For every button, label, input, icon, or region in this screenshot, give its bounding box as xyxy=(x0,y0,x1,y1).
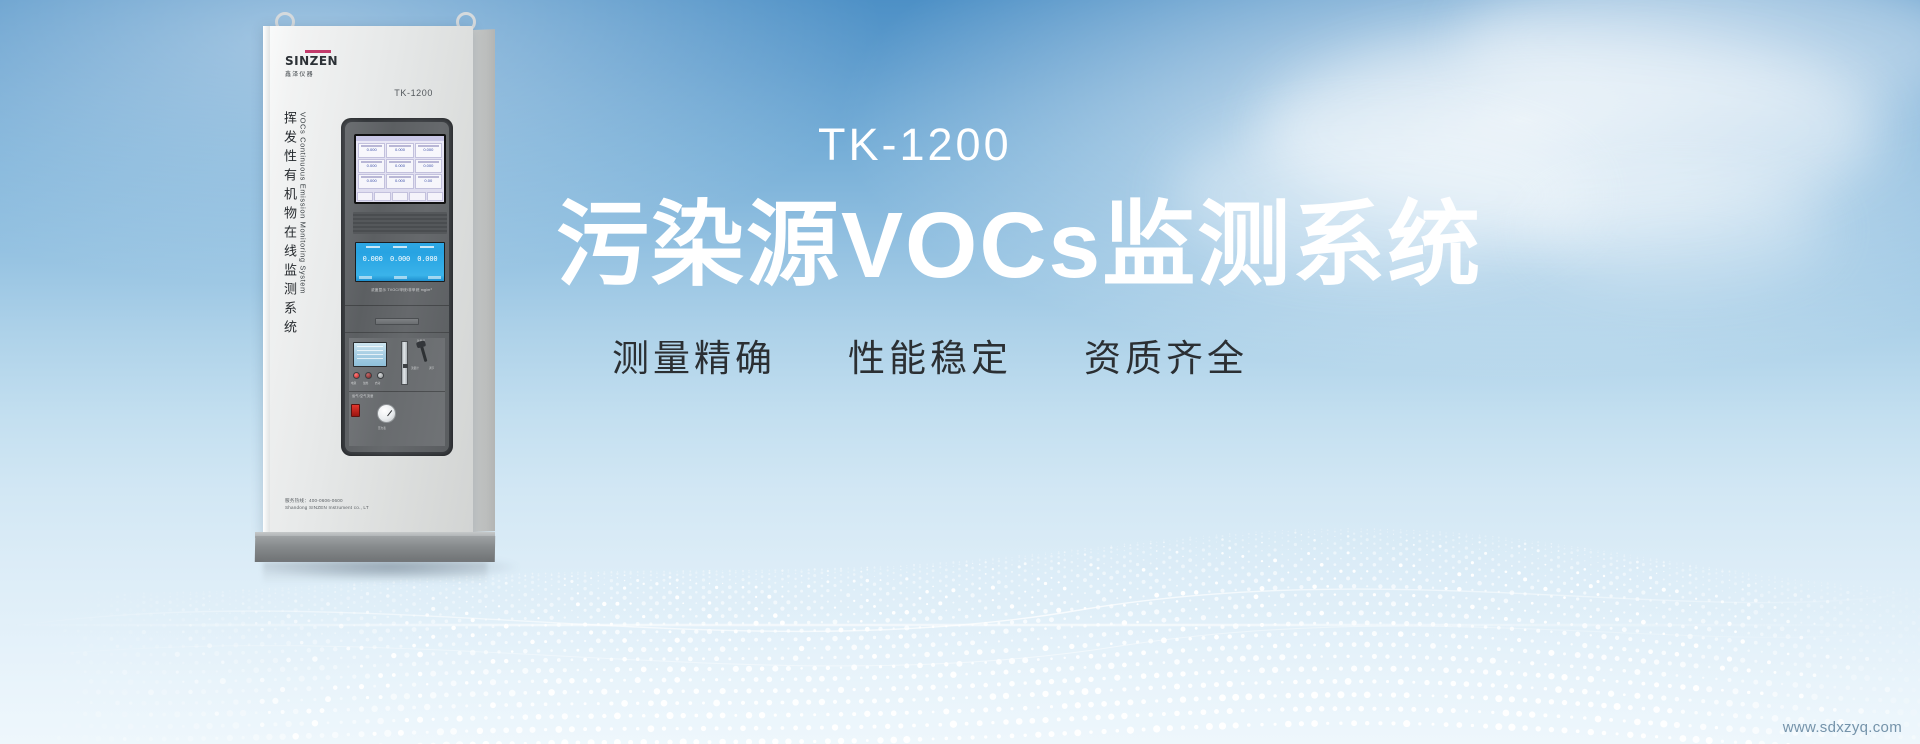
lcd-caption: 浓度显示 TVOC/甲烷/非甲烷 mg/m³ xyxy=(371,288,432,293)
panel-divider xyxy=(349,391,445,392)
cabinet-door: 0.000 0.000 0.000 0.000 0.000 0.000 0.00… xyxy=(341,118,453,456)
hmi-readout-cell: 0.000 xyxy=(386,174,413,189)
company-name-en: Shandong SINZEN Instrument co., LT xyxy=(285,505,369,512)
feature-item: 性能稳定 xyxy=(848,328,1012,382)
pressure-gauge-label: 压力表 xyxy=(378,426,386,430)
rotameter-label-left: 流量计 xyxy=(411,366,419,370)
vertical-label-en: VOCs Continuous Emission Monitoring Syst… xyxy=(299,112,307,294)
feature-item: 资质齐全 xyxy=(1084,328,1248,382)
hmi-readout-cell: 0.00 xyxy=(415,174,442,189)
hmi-readout-cell: 0.000 xyxy=(415,143,442,158)
drawer-handle[interactable] xyxy=(375,318,419,325)
power-button-label: 电源 xyxy=(351,381,356,385)
analyzer-control-panel: 电源 加热 启动 针型阀 流量计 调节 载气/空气流量 xyxy=(349,338,445,446)
hmi-footer-button[interactable] xyxy=(357,192,373,201)
start-button[interactable] xyxy=(377,372,384,379)
hmi-readout-cell: 0.000 xyxy=(386,143,413,158)
vertical-label-strip: 挥发性有机物在线监测系统 VOCs Continuous Emission Mo… xyxy=(283,111,307,339)
site-watermark: www.sdxzyq.com xyxy=(1783,719,1902,736)
hmi-touchscreen[interactable]: 0.000 0.000 0.000 0.000 0.000 0.000 0.00… xyxy=(354,134,446,204)
ventilation-slats xyxy=(353,212,447,234)
brand-name: SINZEN xyxy=(285,54,365,68)
cabinet-door-inner: 0.000 0.000 0.000 0.000 0.000 0.000 0.00… xyxy=(345,122,449,452)
product-banner: SINZEN 鑫泽仪器 TK-1200 挥发性有机物在线监测系统 VOCs Co… xyxy=(0,0,1920,744)
hmi-footer-button[interactable] xyxy=(409,192,425,201)
banner-copy: TK-1200 污染源VOCs监测系统 测量精确 性能稳定 资质齐全 xyxy=(556,120,1856,382)
cabinet-side-panel xyxy=(473,29,495,532)
hmi-readout-cell: 0.000 xyxy=(358,174,385,189)
horizon-glow xyxy=(0,624,1920,626)
power-button[interactable] xyxy=(353,372,360,379)
cabinet-left-edge xyxy=(263,26,270,536)
hmi-readout-grid: 0.000 0.000 0.000 0.000 0.000 0.000 0.00… xyxy=(356,141,444,191)
hmi-footer-buttons[interactable] xyxy=(356,191,444,202)
door-divider xyxy=(345,332,449,333)
brand-name-cn: 鑫泽仪器 xyxy=(285,69,365,78)
lcd-value: 0.000 xyxy=(417,255,437,263)
feature-item: 测量精确 xyxy=(612,328,776,382)
hmi-readout-cell: 0.000 xyxy=(415,159,442,174)
cabinet-model-tag: TK-1200 xyxy=(394,88,433,98)
hmi-readout-cell: 0.000 xyxy=(358,143,385,158)
lcd-value: 0.000 xyxy=(363,255,383,263)
lcd-footer-labels xyxy=(359,276,441,279)
brand-logo: SINZEN 鑫泽仪器 xyxy=(285,50,365,78)
vertical-label-cn: 挥发性有机物在线监测系统 xyxy=(283,111,296,339)
service-info: 服务热线：400-0606-0600 Shandong SINZEN Instr… xyxy=(285,498,369,512)
hmi-screen: 0.000 0.000 0.000 0.000 0.000 0.000 0.00… xyxy=(356,136,444,202)
cloud-decoration xyxy=(1460,0,1920,120)
brand-accent-bar xyxy=(305,50,331,53)
start-button-label: 启动 xyxy=(375,381,380,385)
hmi-footer-button[interactable] xyxy=(392,192,408,201)
cabinet-plinth xyxy=(255,536,495,562)
cabinet-front-panel: SINZEN 鑫泽仪器 TK-1200 挥发性有机物在线监测系统 VOCs Co… xyxy=(263,26,473,536)
floor-reflection xyxy=(263,562,487,584)
heater-button-label: 加热 xyxy=(363,381,368,385)
product-cabinet: SINZEN 鑫泽仪器 TK-1200 挥发性有机物在线监测系统 VOCs Co… xyxy=(263,26,513,571)
pressure-gauge xyxy=(377,404,396,423)
hmi-footer-button[interactable] xyxy=(427,192,443,201)
feature-list: 测量精确 性能稳定 资质齐全 xyxy=(612,328,1856,382)
lcd-value: 0.000 xyxy=(390,255,410,263)
rotameter-float xyxy=(403,364,408,368)
service-hotline: 服务热线：400-0606-0600 xyxy=(285,498,369,505)
lcd-concentration-display: 0.000 0.000 0.000 xyxy=(355,242,445,282)
needle-valve-knob[interactable] xyxy=(420,344,428,362)
door-divider xyxy=(345,305,449,306)
lcd-header-labels xyxy=(359,246,441,248)
heater-button[interactable] xyxy=(365,372,372,379)
rotameter-flow-gauge xyxy=(401,341,408,385)
hmi-readout-cell: 0.000 xyxy=(386,159,413,174)
rotameter-label-right: 调节 xyxy=(429,366,434,370)
panel-section-label: 载气/空气流量 xyxy=(352,394,374,398)
hmi-footer-button[interactable] xyxy=(374,192,390,201)
analyzer-mini-screen xyxy=(353,342,387,367)
hmi-readout-cell: 0.000 xyxy=(358,159,385,174)
page-title: 污染源VOCs监测系统 xyxy=(556,192,1856,299)
lcd-values: 0.000 0.000 0.000 xyxy=(359,255,441,263)
product-model: TK-1200 xyxy=(818,120,1856,170)
emergency-stop-button[interactable] xyxy=(351,404,360,417)
